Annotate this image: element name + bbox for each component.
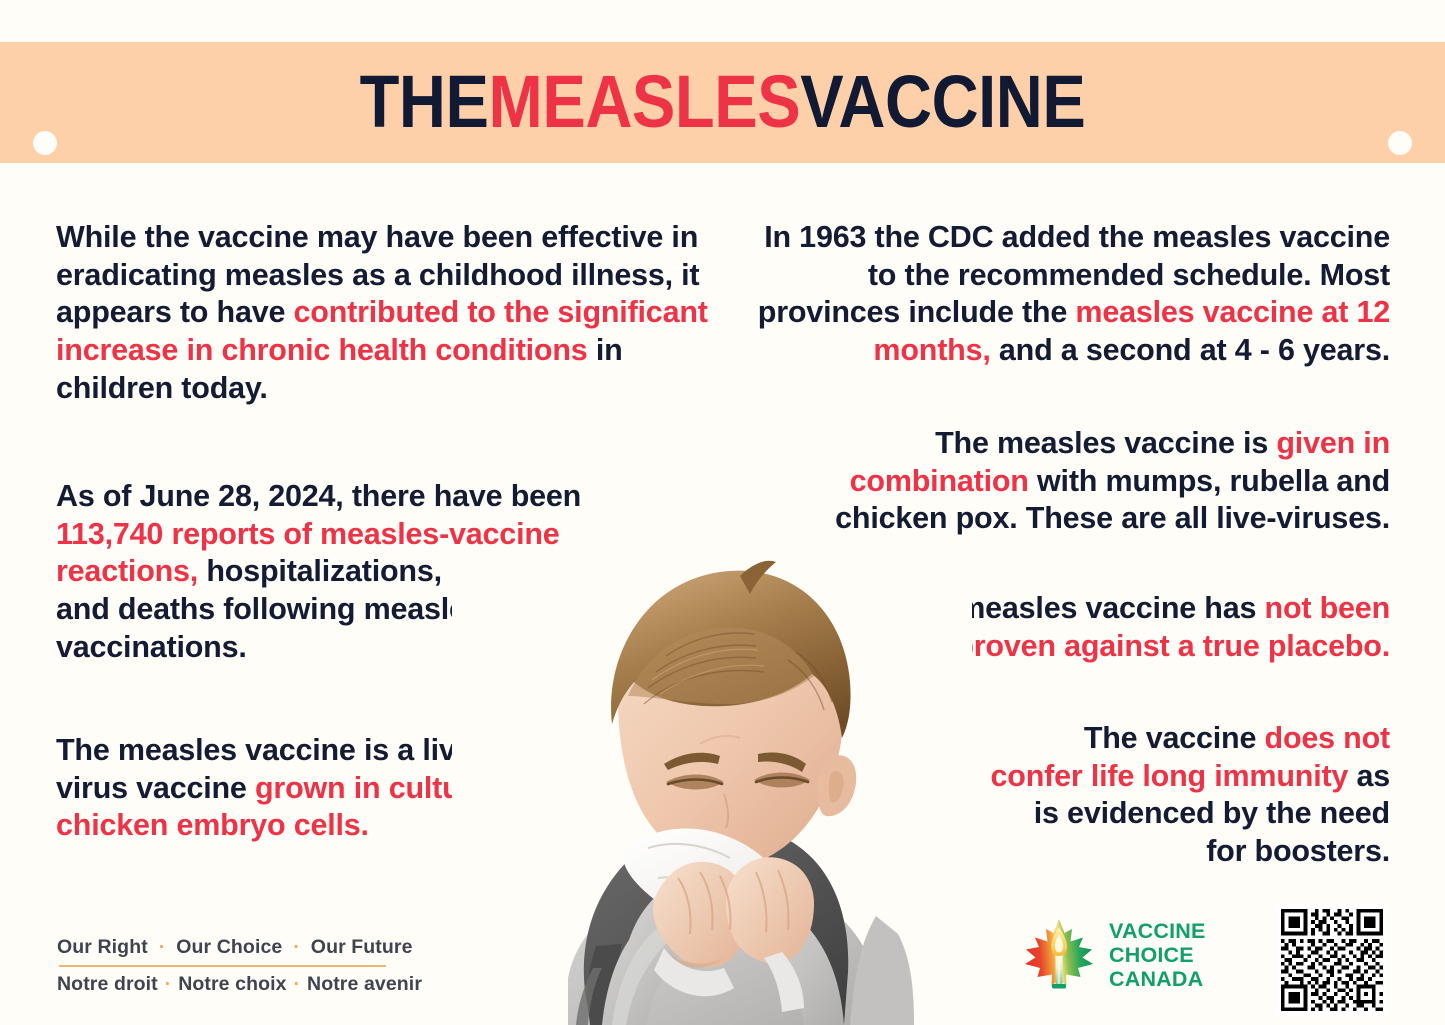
right-paragraph-cdc-schedule: In 1963 the CDC added the measles vaccin… [740, 219, 1390, 370]
child-sneezing-photo [452, 548, 972, 1025]
title-part-measles: MEASLES [489, 65, 801, 139]
text-segment: The vaccine [1084, 721, 1265, 755]
logo-line-vaccine: VACCINE [1109, 919, 1206, 943]
vaccine-choice-canada-logo: VACCINE CHOICE CANADA [1022, 912, 1227, 998]
right-paragraph-combination: The measles vaccine is given in combinat… [812, 425, 1390, 538]
right-paragraph-immunity: The vaccine does not confer life long im… [990, 720, 1390, 871]
logo-line-canada: CANADA [1109, 967, 1206, 991]
tagline-separator-icon: · [148, 937, 176, 959]
maple-leaf-candle-icon [1022, 916, 1096, 994]
qr-code[interactable] [1277, 905, 1387, 1015]
infographic-poster: THE MEASLES VACCINE While the vaccine ma… [0, 0, 1445, 1025]
page-title: THE MEASLES VACCINE [87, 52, 1359, 152]
tagline-french: Notre droit · Notre choix · Notre avenir [57, 973, 422, 996]
tagline-notre-droit: Notre droit [57, 973, 158, 996]
text-segment: and a second at 4 - 6 years. [991, 333, 1390, 367]
logo-wordmark: VACCINE CHOICE CANADA [1109, 919, 1206, 992]
tagline-separator-icon: · [282, 937, 310, 959]
logo-line-choice: CHOICE [1109, 943, 1206, 967]
tagline-separator-icon: · [287, 974, 307, 996]
tagline-our-right: Our Right [57, 936, 148, 959]
title-part-vaccine: VACCINE [800, 65, 1085, 139]
band-dot-right-icon [1388, 131, 1412, 155]
tagline-notre-choix: Notre choix [178, 973, 286, 996]
tagline-divider [59, 965, 386, 967]
band-dot-left-icon [33, 131, 57, 155]
tagline-english: Our Right · Our Choice · Our Future [57, 936, 422, 959]
text-segment: The measles vaccine is [935, 426, 1276, 460]
tagline-our-choice: Our Choice [176, 936, 282, 959]
text-segment: As of June 28, 2024, there have been [56, 479, 581, 513]
tagline-notre-avenir: Notre avenir [307, 973, 422, 996]
left-paragraph-chronic-health: While the vaccine may have been effectiv… [56, 219, 718, 407]
tagline-our-future: Our Future [311, 936, 413, 959]
tagline: Our Right · Our Choice · Our Future Notr… [57, 936, 422, 996]
title-part-the: THE [360, 65, 489, 139]
tagline-separator-icon: · [158, 974, 178, 996]
